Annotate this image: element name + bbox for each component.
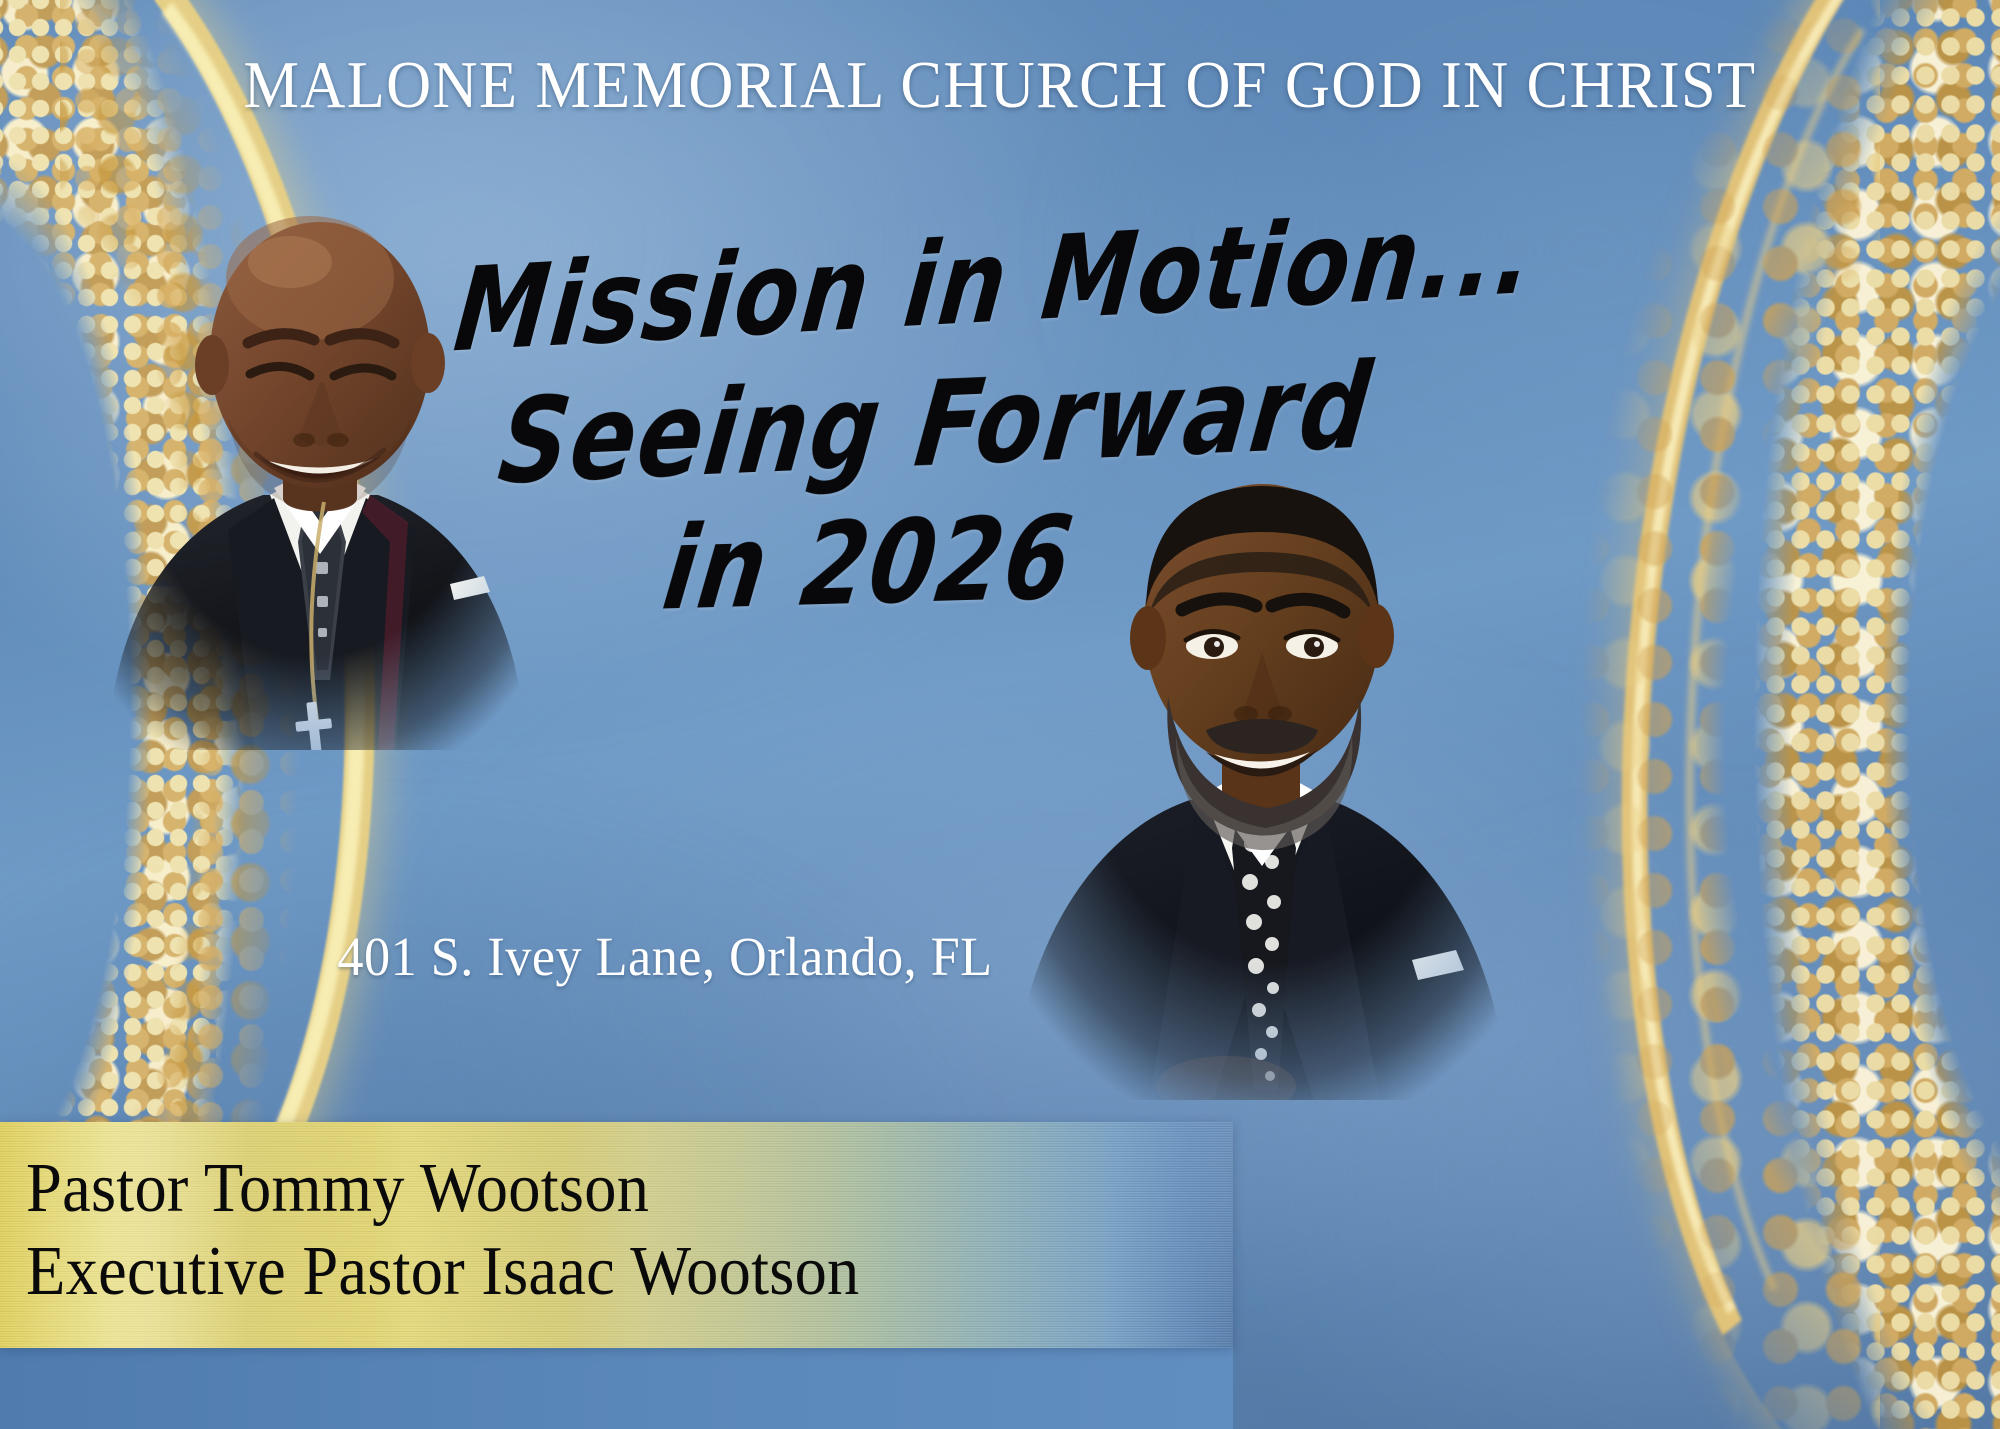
theme-line-3: in 2026	[656, 492, 1081, 637]
gold-glitter-arc-icon	[1540, 0, 2000, 1429]
church-address: 401 S. Ivey Lane, Orlando, FL	[33, 925, 1297, 988]
bottom-strip	[0, 1348, 1233, 1429]
executive-pastor-name: Executive Pastor Isaac Wootson	[26, 1231, 1136, 1314]
church-flyer: MALONE MEMORIAL CHURCH OF GOD IN CHRIST …	[0, 0, 2000, 1429]
gold-glitter-arc-icon	[1553, 0, 2000, 1429]
gold-sparkle-icon	[1460, 0, 2000, 1429]
leadership-names: Pastor Tommy Wootson Executive Pastor Is…	[26, 1148, 1136, 1313]
gold-glitter-arc-icon	[1638, 0, 2000, 1429]
page-title: MALONE MEMORIAL CHURCH OF GOD IN CHRIST	[70, 50, 1930, 120]
pastor-name: Pastor Tommy Wootson	[26, 1148, 1136, 1231]
pastor-tommy-wootson-portrait	[78, 150, 548, 750]
leadership-banner: Pastor Tommy Wootson Executive Pastor Is…	[0, 1122, 1233, 1348]
